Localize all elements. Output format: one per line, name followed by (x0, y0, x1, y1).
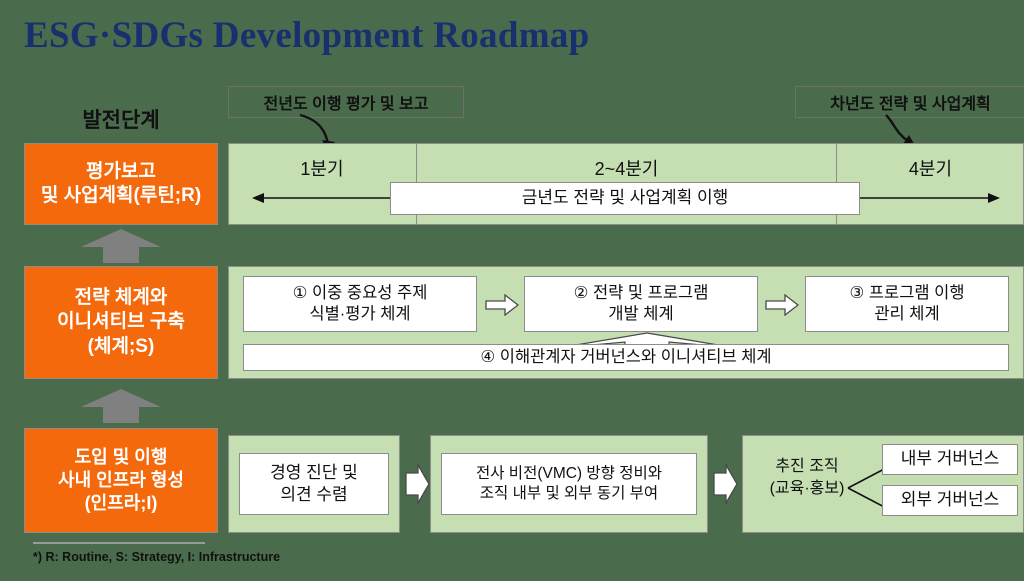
quarter-label-3: 4분기 (837, 155, 1024, 181)
strategy-box-3-line2: 관리 체계 (849, 304, 964, 325)
quarter-label-1: 1분기 (228, 155, 416, 181)
stage-box-strategy-line3: (체계;S) (57, 335, 185, 359)
stage-box-strategy-line2: 이니셔티브 구축 (57, 310, 185, 334)
strategy-chevron-1-icon (485, 294, 519, 316)
strategy-box-2-line1: ② 전략 및 프로그램 (574, 283, 709, 304)
strategy-box-2: ② 전략 및 프로그램 개발 체계 (524, 276, 758, 332)
infra-chevron-1-icon (404, 463, 430, 505)
stage-box-routine-line2: 및 사업계획(루틴;R) (41, 184, 201, 208)
stage-column-header: 발전단계 (24, 104, 218, 134)
stage-box-infrastructure-line3: (인프라;I) (58, 492, 184, 515)
strategy-box-2-line2: 개발 체계 (574, 304, 709, 325)
strategy-box-1-line2: 식별·평가 체계 (293, 304, 428, 325)
stage-up-arrow-1-icon (80, 228, 162, 264)
stage-box-strategy: 전략 체계와 이니셔티브 구축 (체계;S) (24, 266, 218, 379)
strategy-box-1-line1: ① 이중 중요성 주제 (293, 283, 428, 304)
footnote-divider (33, 542, 205, 544)
governance-external-box: 외부 거버넌스 (882, 485, 1018, 516)
infra-box-2-line2: 조직 내부 및 외부 동기 부여 (476, 484, 662, 504)
stage-box-infrastructure-line2: 사내 인프라 형성 (58, 469, 184, 492)
infra-box-2: 전사 비전(VMC) 방향 정비와 조직 내부 및 외부 동기 부여 (441, 453, 697, 515)
infra-box-1-line2: 의견 수렴 (270, 484, 358, 506)
strategy-box-3-line1: ③ 프로그램 이행 (849, 283, 964, 304)
routine-center-box: 금년도 전략 및 사업계획 이행 (390, 182, 860, 215)
infra-box-2-line1: 전사 비전(VMC) 방향 정비와 (476, 464, 662, 484)
strategy-chevron-2-icon (765, 294, 799, 316)
page-title: ESG·SDGs Development Roadmap (24, 14, 590, 57)
roadmap-canvas: ESG·SDGs Development Roadmap 전년도 이행 평가 및… (0, 0, 1024, 581)
strategy-bottom-box: ④ 이해관계자 거버넌스와 이니셔티브 체계 (243, 344, 1009, 371)
infra-box-1-line1: 경영 진단 및 (270, 462, 358, 484)
infra-chevron-2-icon (712, 463, 738, 505)
infra-box-1: 경영 진단 및 의견 수렴 (239, 453, 389, 515)
strategy-box-1: ① 이중 중요성 주제 식별·평가 체계 (243, 276, 477, 332)
strategy-box-3: ③ 프로그램 이행 관리 체계 (805, 276, 1009, 332)
governance-internal-box: 내부 거버넌스 (882, 444, 1018, 475)
stage-box-routine: 평가보고 및 사업계획(루틴;R) (24, 143, 218, 225)
stage-box-infrastructure-line1: 도입 및 이행 (58, 446, 184, 469)
footnote-text: *) R: Routine, S: Strategy, I: Infrastru… (33, 550, 280, 564)
stage-box-infrastructure: 도입 및 이행 사내 인프라 형성 (인프라;I) (24, 428, 218, 533)
stage-box-strategy-line1: 전략 체계와 (57, 286, 185, 310)
quarter-label-2: 2~4분기 (417, 155, 836, 181)
stage-box-routine-line1: 평가보고 (41, 160, 201, 184)
stage-up-arrow-2-icon (80, 388, 162, 424)
